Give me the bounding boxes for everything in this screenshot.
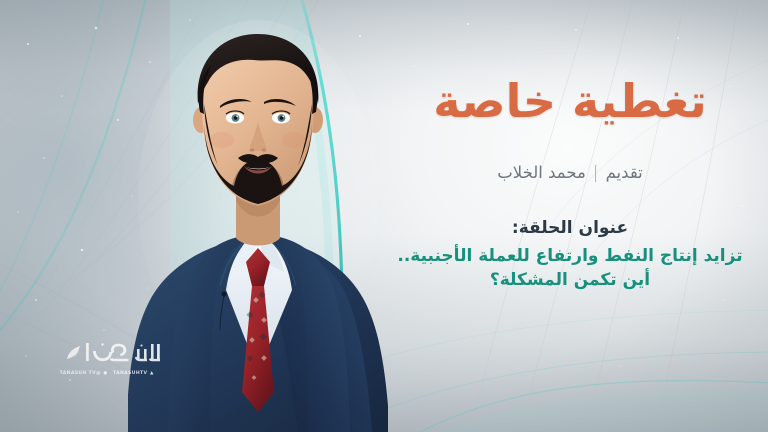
page-title: تغطية خاصة [372, 78, 768, 124]
handle-social-wrap: ● @TANASUH TV [60, 371, 108, 376]
handle-secondary: TANASUHTV [113, 371, 147, 376]
channel-logo-mark [51, 338, 163, 368]
episode-title: تزايد إنتاج النفط وارتفاع للعملة الأجنبي… [372, 244, 768, 292]
episode-title-line-1: تزايد إنتاج النفط وارتفاع للعملة الأجنبي… [397, 246, 742, 266]
at-icon: ● [103, 371, 108, 376]
title-text-column: تغطية خاصة تقديم|محمد الخلاب عنوان الحلق… [372, 0, 768, 432]
credit-separator: | [593, 163, 599, 182]
episode-label: عنوان الحلقة: [372, 218, 768, 238]
channel-handles: ▲ TANASUHTV ● @TANASUH TV [46, 371, 168, 376]
presenter-prefix: تقديم [606, 163, 643, 182]
presenter-credit: تقديم|محمد الخلاب [372, 163, 768, 182]
handle-social: @TANASUH TV [60, 371, 101, 376]
bird-icon: ▲ [149, 371, 154, 376]
episode-title-line-2: أين تكمن المشكلة؟ [490, 270, 650, 290]
channel-logo: ▲ TANASUHTV ● @TANASUH TV [46, 338, 168, 376]
broadcast-title-card: تغطية خاصة تقديم|محمد الخلاب عنوان الحلق… [0, 0, 768, 432]
presenter-name: محمد الخلاب [497, 163, 586, 182]
handle-secondary-wrap: ▲ TANASUHTV [113, 371, 154, 376]
